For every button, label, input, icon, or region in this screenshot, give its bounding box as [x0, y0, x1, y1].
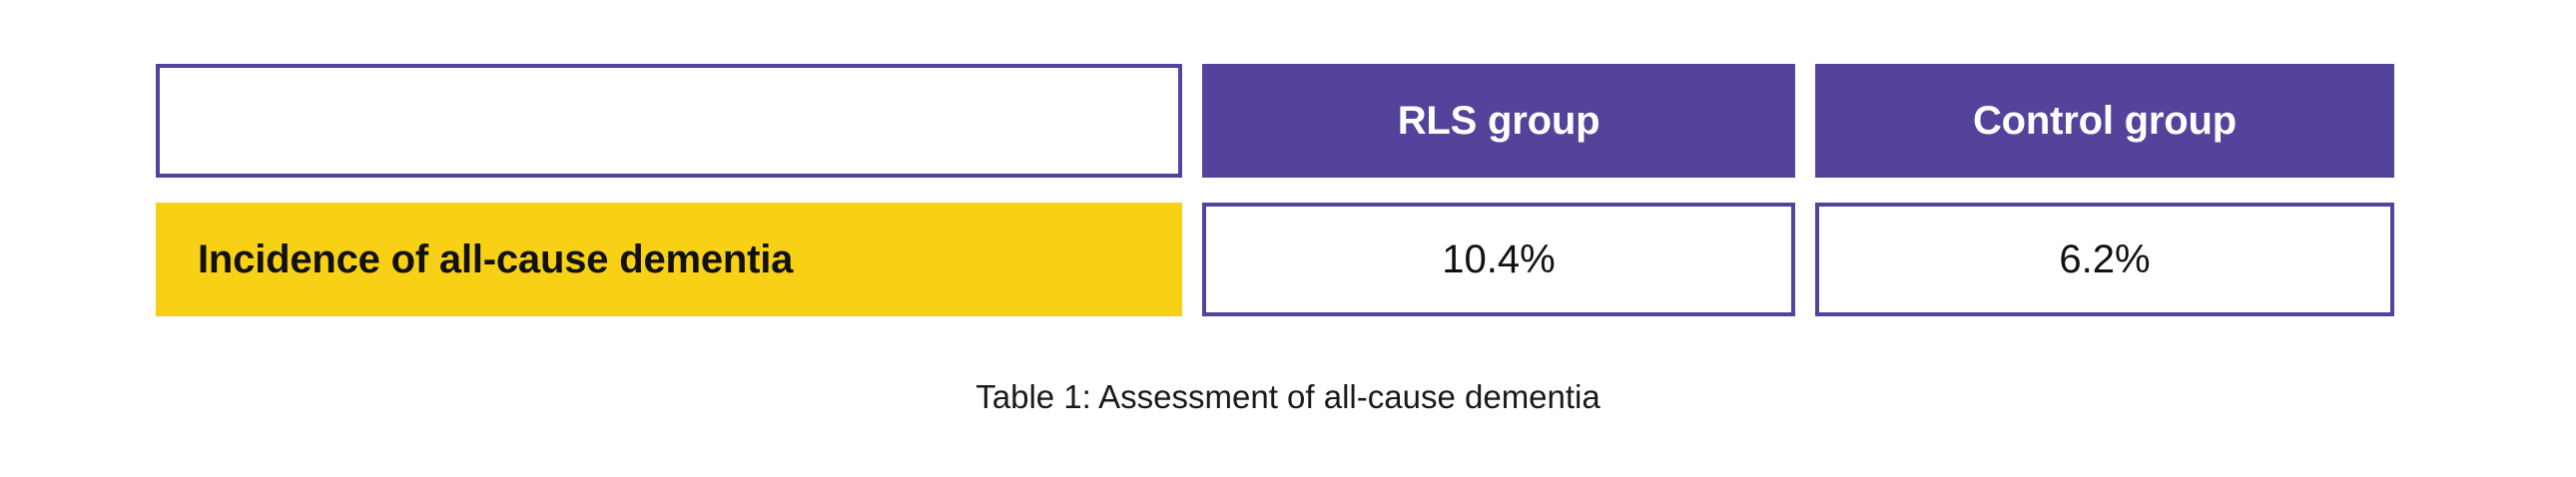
table-row: Incidence of all-cause dementia 10.4% 6.… — [156, 203, 2394, 316]
figure-canvas: RLS group Control group Incidence of all… — [0, 0, 2576, 477]
row-spacer — [156, 178, 2394, 203]
row-label-text: Incidence of all-cause dementia — [198, 239, 793, 279]
value-control-group: 6.2% — [2059, 239, 2150, 279]
column-spacer — [1795, 64, 1815, 178]
column-spacer — [1182, 203, 1202, 316]
column-spacer — [1182, 64, 1202, 178]
header-label-rls-group: RLS group — [1398, 101, 1601, 141]
row-header-incidence-of-all-cause-dementia: Incidence of all-cause dementia — [156, 203, 1182, 316]
header-cell-rls-group: RLS group — [1202, 64, 1795, 178]
value-cell-rls-group: 10.4% — [1202, 203, 1795, 316]
value-rls-group: 10.4% — [1442, 239, 1555, 279]
table-caption: Table 1: Assessment of all-cause dementi… — [0, 377, 2576, 417]
header-cell-empty — [156, 64, 1182, 178]
header-cell-control-group: Control group — [1815, 64, 2394, 178]
column-spacer — [1795, 203, 1815, 316]
table-header-row: RLS group Control group — [156, 64, 2394, 178]
results-table: RLS group Control group Incidence of all… — [156, 64, 2394, 316]
header-label-control-group: Control group — [1973, 101, 2237, 141]
value-cell-control-group: 6.2% — [1815, 203, 2394, 316]
